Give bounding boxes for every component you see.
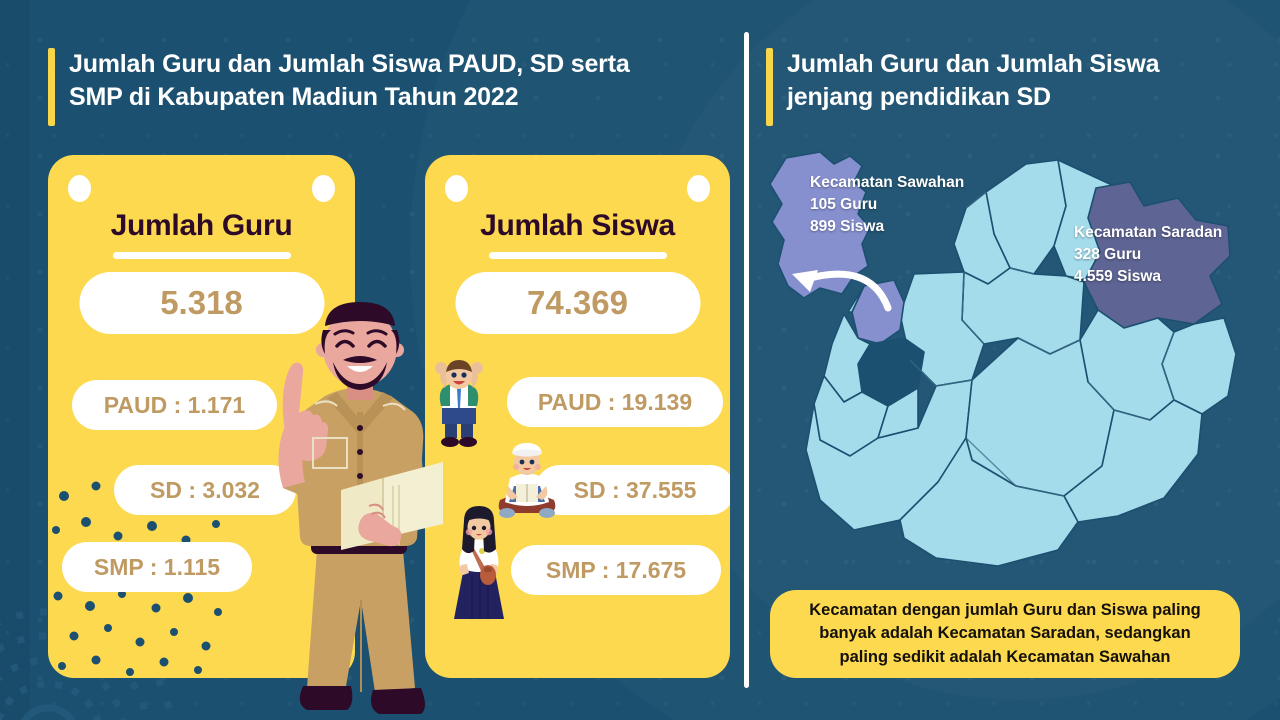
card-total-siswa: 74.369: [455, 272, 700, 334]
card-title-guru: Jumlah Guru: [48, 209, 355, 243]
card-title-siswa: Jumlah Siswa: [425, 209, 730, 243]
right-panel-title: Jumlah Guru dan Jumlah Siswa jenjang pen…: [766, 48, 1236, 126]
stat-pill-siswa-paud: PAUD : 19.139: [507, 377, 723, 427]
title-accent-bar: [48, 48, 55, 126]
left-title-text: Jumlah Guru dan Jumlah Siswa PAUD, SD se…: [69, 48, 630, 126]
title-accent-bar: [766, 48, 773, 126]
background-left-shade: [0, 0, 30, 720]
card-hole-left: [445, 175, 468, 202]
infographic-canvas: Jumlah Guru dan Jumlah Siswa PAUD, SD se…: [0, 0, 1280, 720]
right-title-text: Jumlah Guru dan Jumlah Siswa jenjang pen…: [787, 48, 1159, 126]
stat-pill-siswa-sd: SD : 37.555: [535, 465, 730, 515]
conclusion-text: Kecamatan dengan jumlah Guru dan Siswa p…: [809, 599, 1201, 669]
vertical-divider: [744, 32, 749, 688]
conclusion-box: Kecamatan dengan jumlah Guru dan Siswa p…: [770, 590, 1240, 678]
stat-pill-guru-sd: SD : 3.032: [114, 465, 296, 515]
card-underline: [113, 252, 291, 259]
stat-card-guru: Jumlah Guru 5.318 PAUD : 1.171 SD : 3.03…: [48, 155, 355, 678]
stat-pill-guru-paud: PAUD : 1.171: [72, 380, 277, 430]
card-total-guru: 5.318: [79, 272, 324, 334]
card-hole-right: [687, 175, 710, 202]
stat-pill-guru-smp: SMP : 1.115: [62, 542, 252, 592]
card-hole-left: [68, 175, 91, 202]
left-panel-title: Jumlah Guru dan Jumlah Siswa PAUD, SD se…: [48, 48, 708, 126]
card-underline: [489, 252, 667, 259]
card-hole-right: [312, 175, 335, 202]
stat-pill-siswa-smp: SMP : 17.675: [511, 545, 721, 595]
map-callout-sawahan: Kecamatan Sawahan 105 Guru 899 Siswa: [810, 172, 964, 238]
map-callout-saradan: Kecamatan Saradan 328 Guru 4.559 Siswa: [1074, 222, 1222, 288]
stat-card-siswa: Jumlah Siswa 74.369 PAUD : 19.139 SD : 3…: [425, 155, 730, 678]
